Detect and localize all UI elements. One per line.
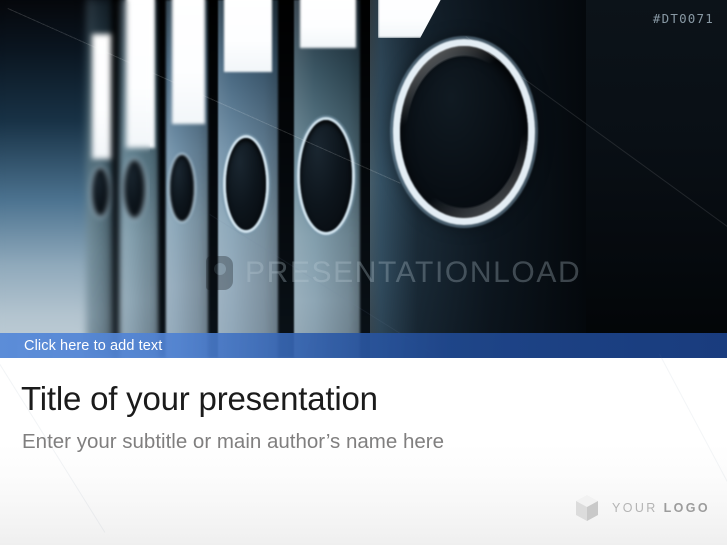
binder-hole-1 bbox=[92, 168, 109, 216]
logo-text-light: YOUR bbox=[612, 501, 664, 515]
binder-hole-5 bbox=[300, 120, 352, 232]
binder-hole-2 bbox=[124, 160, 145, 218]
binder-label-2 bbox=[126, 0, 155, 148]
logo-placeholder[interactable]: YOUR LOGO bbox=[574, 493, 710, 523]
text-placeholder-bar[interactable]: Click here to add text bbox=[0, 333, 727, 358]
ring-binders-photo: PRESENTATIONLOAD #DT0071 bbox=[0, 0, 727, 358]
binder-label-3 bbox=[172, 0, 205, 124]
title-panel: Title of your presentation Enter your su… bbox=[0, 358, 727, 545]
presentation-subtitle[interactable]: Enter your subtitle or main author’s nam… bbox=[22, 430, 444, 454]
binder-hole-3 bbox=[170, 155, 194, 221]
binder-label-5 bbox=[300, 0, 356, 48]
binder-label-4 bbox=[224, 0, 272, 72]
binder-hole-4 bbox=[226, 138, 266, 230]
text-placeholder-label: Click here to add text bbox=[24, 338, 162, 354]
logo-text-bold: LOGO bbox=[664, 501, 710, 515]
document-id-label: #DT0071 bbox=[653, 11, 714, 26]
binder-hole-6 bbox=[400, 46, 528, 218]
presentation-title[interactable]: Title of your presentation bbox=[21, 380, 378, 418]
cube-icon bbox=[574, 493, 600, 523]
logo-text: YOUR LOGO bbox=[612, 501, 710, 515]
binder-label-1 bbox=[92, 34, 112, 159]
presentation-slide: PRESENTATIONLOAD #DT0071 Click here to a… bbox=[0, 0, 727, 545]
decorative-diagonal-line-5 bbox=[659, 354, 727, 496]
